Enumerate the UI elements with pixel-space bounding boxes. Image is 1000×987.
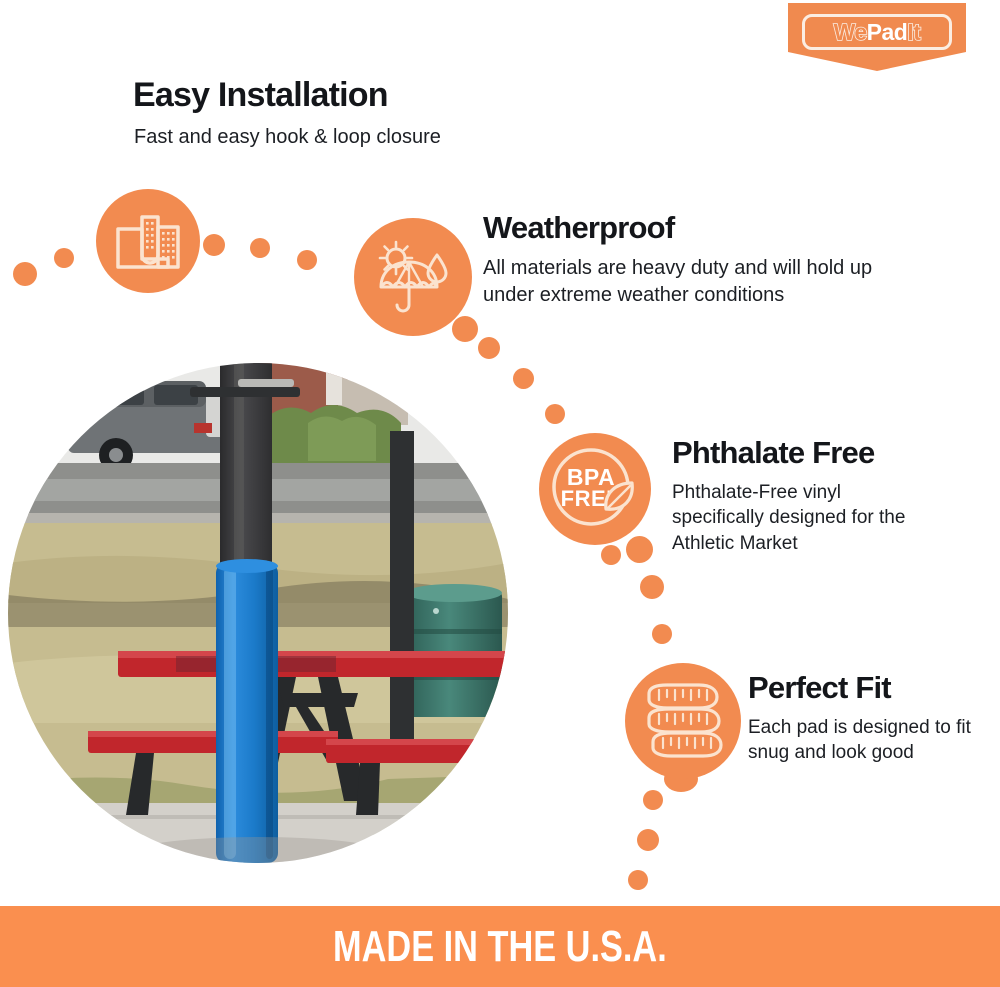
brand-logo-text: WePadIt [834,21,921,44]
icon-medallion-easy-installation [96,189,200,293]
icon-medallion-perfect-fit [625,663,741,779]
brand-logo-pad: Pad [867,19,908,45]
measuring-tape-icon [637,678,729,764]
trail-dot [637,829,659,851]
trail-dot [250,238,270,258]
feature-title-weatherproof: Weatherproof [483,212,674,245]
trail-dot [54,248,74,268]
product-photo-illustration [8,363,508,863]
made-in-usa-text: MADE IN THE U.S.A. [333,922,667,972]
trail-dot [545,404,565,424]
made-in-usa-banner: MADE IN THE U.S.A. [0,906,1000,987]
trail-dot [628,870,648,890]
trail-dot [640,575,664,599]
trail-dot [203,234,225,256]
feature-body-weatherproof: All materials are heavy duty and will ho… [483,255,913,308]
brand-logo-badge: WePadIt [788,3,966,71]
feature-body-easy-installation: Fast and easy hook & loop closure [134,124,554,151]
trail-dot [297,250,317,270]
bpa-free-leaf-icon: BPA FREE [546,441,644,537]
infographic-page: WePadIt Easy Installation Fast and easy … [0,0,1000,987]
trail-dot [478,337,500,359]
trail-dot [513,368,534,389]
brand-logo-frame: WePadIt [802,14,952,50]
icon-medallion-phthalate-free: BPA FREE [539,433,651,545]
feature-title-easy-installation: Easy Installation [133,78,388,114]
brand-logo-it: It [907,19,920,45]
feature-body-phthalate-free: Phthalate-Free vinyl specifically design… [672,480,934,556]
icon-medallion-weatherproof [354,218,472,336]
brand-logo-we: We [834,19,867,45]
feature-title-phthalate-free: Phthalate Free [672,437,874,470]
trail-dot [643,790,663,810]
trail-dot [652,624,672,644]
trail-dot [13,262,37,286]
product-photo [8,363,508,863]
hook-and-loop-icon [112,209,184,273]
umbrella-sun-rain-icon [371,237,455,317]
feature-body-perfect-fit: Each pad is designed to fit snug and loo… [748,715,978,766]
trail-dot [601,545,621,565]
medallion-nub [452,316,478,342]
medallion-nub [626,536,653,563]
feature-title-perfect-fit: Perfect Fit [748,672,891,705]
